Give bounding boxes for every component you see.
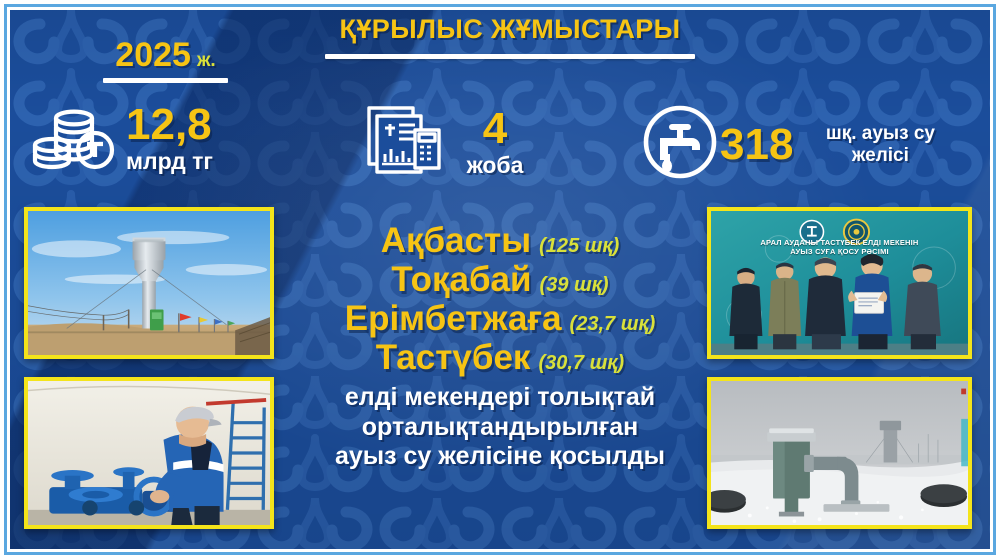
winter-pumping-station-photo[interactable] [707,377,972,529]
stat-water-value: 318 [720,124,793,166]
stat-budget: 12,8 млрд тг [30,100,213,179]
banner-line: АРАЛ АУДАНЫ ТАСТҮБЕК ЕЛДІ МЕКЕНІН [719,238,960,247]
water-tap-icon [640,102,720,187]
coins-stack-icon [30,100,116,179]
village-row: Ерімбетжаға(23,7 шқ) [270,300,730,337]
villages-block: Ақбасты(125 шқ) Тоқабай(39 шқ) Ерімбетжа… [270,222,730,471]
year-underline [103,78,228,83]
village-value: (39 шқ) [540,274,609,296]
year-suffix: ж. [197,50,216,71]
village-name: Тастүбек [376,338,531,377]
village-name: Ерімбетжаға [345,299,562,338]
infographic-poster: ҚҰРЫЛЫС ЖҰМЫСТАРЫ 2025ж. [0,0,1000,559]
village-row: Тоқабай(39 шқ) [270,261,730,298]
village-value: (125 шқ) [539,235,619,257]
ceremony-group-photo[interactable]: АРАЛ АУДАНЫ ТАСТҮБЕК ЕЛДІ МЕКЕНІН АУЫЗ С… [707,207,972,359]
village-value: (30,7 шқ) [538,352,624,374]
village-row: Ақбасты(125 шқ) [270,222,730,259]
village-name: Ақбасты [381,221,531,260]
stat-water-network: 318 шқ. ауыз су желісі [640,102,955,187]
stats-row: 12,8 млрд тг [10,96,990,196]
worker-valves-photo[interactable] [24,377,274,529]
ceremony-banner-text: АРАЛ АУДАНЫ ТАСТҮБЕК ЕЛДІ МЕКЕНІН АУЫЗ С… [711,238,968,257]
stat-water-unit: шқ. ауыз су желісі [805,123,955,167]
year-label: 2025ж. [78,36,253,83]
water-tower-photo[interactable] [24,207,274,359]
conclusion-line: орталықтандырылған [270,413,730,442]
stat-projects-value: 4 [453,108,537,150]
header: ҚҰРЫЛЫС ЖҰМЫСТАРЫ [300,14,720,59]
document-calculator-icon [365,104,443,183]
conclusion-line: елді мекендері толықтай [270,383,730,412]
page-title: ҚҰРЫЛЫС ЖҰМЫСТАРЫ [300,14,720,45]
title-underline [325,54,695,59]
village-name: Тоқабай [391,260,531,299]
banner-line: АУЫЗ СУҒА ҚОСУ РӘСІМІ [719,247,960,256]
stat-budget-value: 12,8 [126,104,213,146]
conclusion-text: елді мекендері толықтай орталықтандырылғ… [270,383,730,471]
stat-projects-unit: жоба [453,153,537,178]
stat-projects: 4 жоба [365,104,537,183]
village-value: (23,7 шқ) [570,313,656,335]
stat-budget-unit: млрд тг [126,149,213,174]
village-row: Тастүбек(30,7 шқ) [270,339,730,376]
conclusion-line: ауыз су желісіне қосылды [270,442,730,471]
year-number: 2025 [115,36,191,74]
